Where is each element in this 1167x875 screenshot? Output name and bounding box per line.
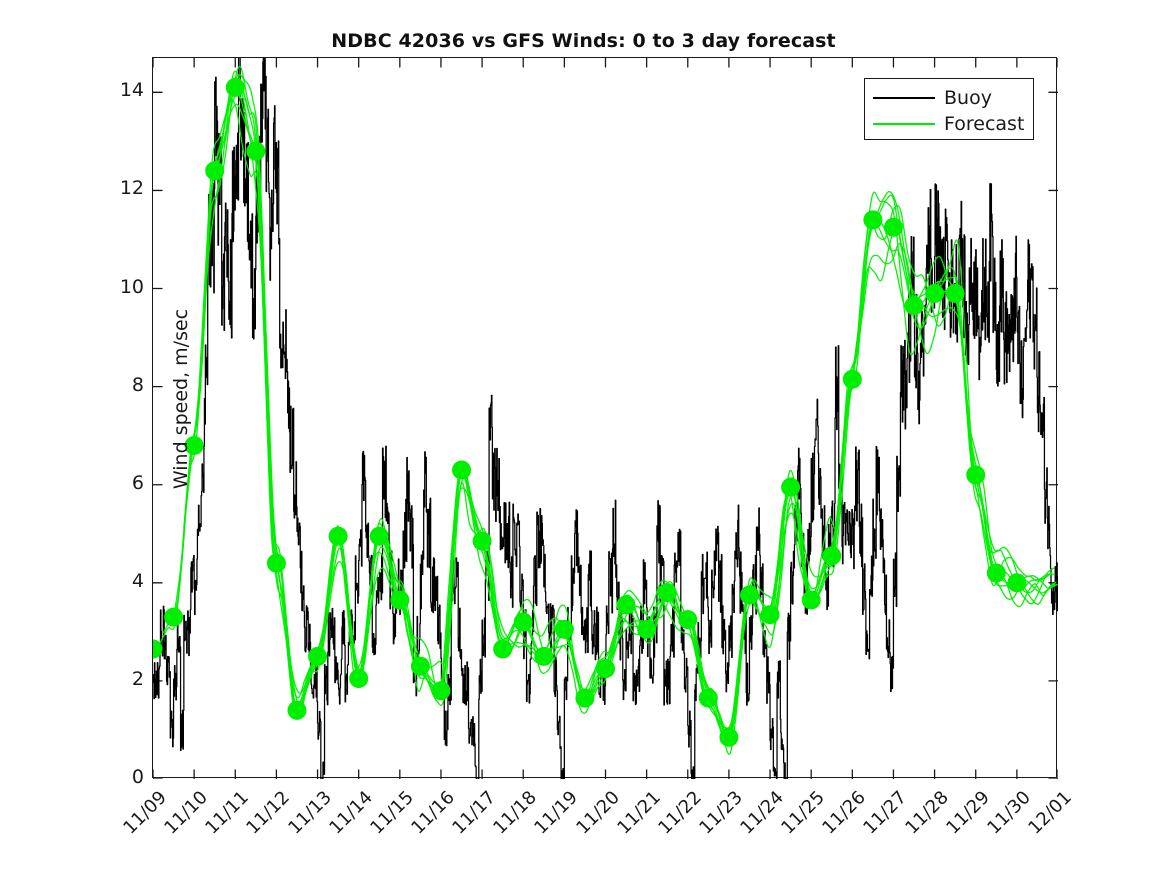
legend-label-buoy: Buoy <box>944 89 992 108</box>
figure-canvas: NDBC 42036 vs GFS Winds: 0 to 3 day fore… <box>0 0 1167 875</box>
legend-item-buoy: Buoy <box>873 85 1025 111</box>
legend-swatch-buoy <box>873 97 935 99</box>
chart-legend: Buoy Forecast <box>864 78 1034 140</box>
legend-swatch-forecast <box>873 123 935 125</box>
legend-item-forecast: Forecast <box>873 111 1025 137</box>
legend-label-forecast: Forecast <box>944 115 1024 134</box>
